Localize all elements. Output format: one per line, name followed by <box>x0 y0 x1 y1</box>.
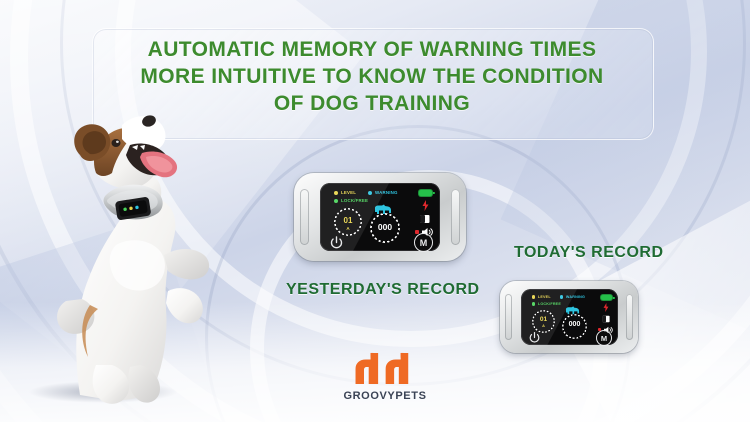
caption-today: TODAY'S RECORD <box>514 244 664 262</box>
legend-lockfree-label: LOCK/FREE <box>538 302 561 306</box>
level-dot <box>334 191 338 195</box>
level-dot <box>532 295 535 298</box>
battery-icon <box>601 295 612 300</box>
battery-icon <box>419 190 432 196</box>
strap-slot-left <box>300 189 309 245</box>
count-value: 000 <box>562 321 587 328</box>
groovypets-mark-icon <box>348 352 421 384</box>
device-today[interactable]: LEVEL WARNING LOCK/FREE 01 A 000 <box>500 281 638 353</box>
mode-button-label: M <box>601 334 607 343</box>
shock-bolt-icon <box>603 303 609 312</box>
legend-warning-label: WARNING <box>566 295 585 299</box>
power-button[interactable] <box>329 235 344 250</box>
headline-line-1: AUTOMATIC MEMORY OF WARNING TIMES <box>92 36 652 63</box>
vibration-icon <box>419 214 431 224</box>
lockfree-dot <box>334 199 338 203</box>
legend-level-label: LEVEL <box>538 295 551 299</box>
brand-name: GROOVYPETS <box>330 390 440 402</box>
brand-logo: GROOVYPETS <box>330 352 440 402</box>
lockfree-dot <box>532 302 535 305</box>
warning-dot <box>368 191 372 195</box>
headline-line-2: MORE INTUITIVE TO KNOW THE CONDITION <box>92 63 652 90</box>
legend-lockfree-label: LOCK/FREE <box>341 198 368 203</box>
level-value: 01 <box>334 216 362 225</box>
promo-banner: AUTOMATIC MEMORY OF WARNING TIMES MORE I… <box>0 0 750 422</box>
legend-level: LEVEL <box>532 295 551 299</box>
legend-level-label: LEVEL <box>341 190 356 195</box>
warning-dot <box>560 295 563 298</box>
mode-button[interactable]: M <box>596 330 612 346</box>
strap-slot-right <box>451 189 460 245</box>
shock-bolt-icon <box>422 200 429 211</box>
legend-warning-label: WARNING <box>375 190 398 195</box>
legend-lockfree: LOCK/FREE <box>334 198 368 203</box>
level-value: 01 <box>532 316 555 323</box>
jack-russell-terrier-illustration <box>18 95 233 405</box>
count-value: 000 <box>370 222 400 232</box>
level-sub: A <box>334 226 362 231</box>
legend-warning: WARNING <box>560 295 585 299</box>
caption-yesterday: YESTERDAY'S RECORD <box>286 281 480 299</box>
mode-button[interactable]: M <box>414 233 433 252</box>
legend-warning: WARNING <box>368 190 398 195</box>
strap-slot-right <box>626 294 633 340</box>
level-sub: A <box>532 324 555 328</box>
mode-button-label: M <box>420 238 428 248</box>
vibration-icon <box>601 315 611 323</box>
dog-photo <box>18 95 233 405</box>
strap-slot-left <box>505 294 512 340</box>
power-button[interactable] <box>528 331 541 344</box>
device-yesterday[interactable]: LEVEL WARNING LOCK/FREE 01 A <box>294 173 466 261</box>
legend-lockfree: LOCK/FREE <box>532 302 561 306</box>
legend-level: LEVEL <box>334 190 356 195</box>
